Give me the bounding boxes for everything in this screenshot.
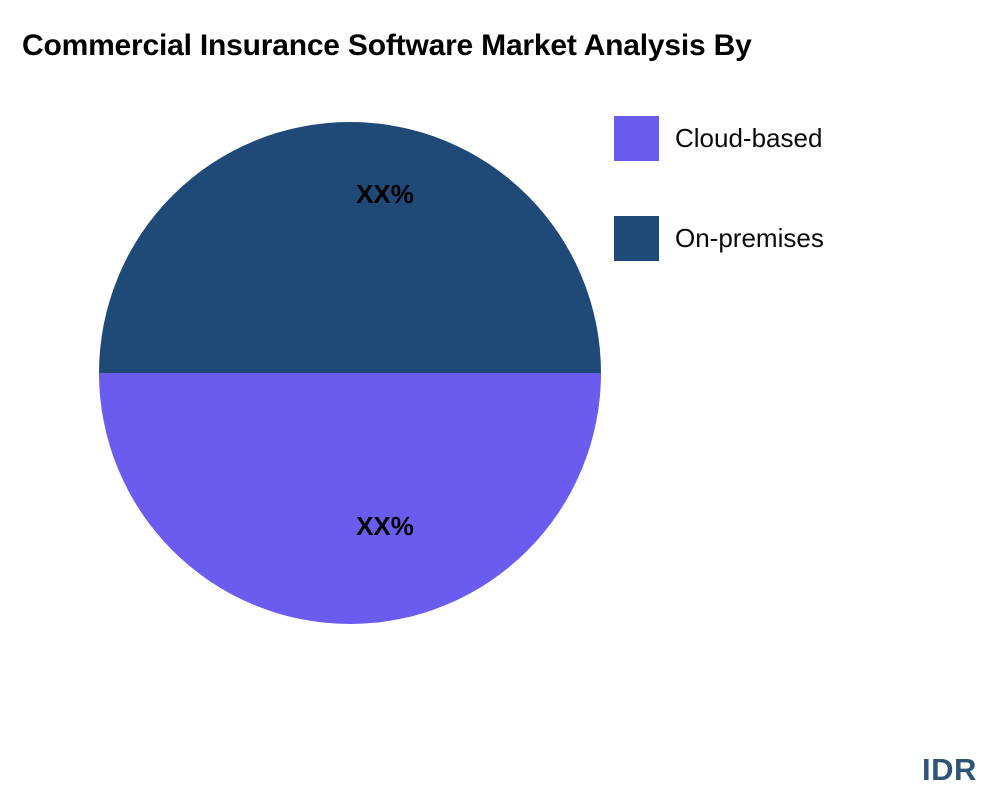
- pie-slice-cloud-based[interactable]: [99, 373, 601, 624]
- chart-canvas: Commercial Insurance Software Market Ana…: [0, 0, 1000, 800]
- pie-chart: XX% XX%: [99, 122, 601, 624]
- legend-item-on-premises[interactable]: On-premises: [614, 216, 974, 261]
- pie-slice-label-cloud-based: XX%: [325, 511, 445, 542]
- pie-slice-on-premises[interactable]: [99, 122, 601, 373]
- pie-slice-label-on-premises: XX%: [325, 179, 445, 210]
- legend-label-cloud-based: Cloud-based: [675, 123, 822, 154]
- legend-swatch-cloud-based: [614, 116, 659, 161]
- page-title: Commercial Insurance Software Market Ana…: [22, 26, 1000, 66]
- chart-legend: Cloud-based On-premises: [614, 116, 974, 316]
- legend-item-cloud-based[interactable]: Cloud-based: [614, 116, 974, 161]
- legend-swatch-on-premises: [614, 216, 659, 261]
- brand-watermark: IDR: [922, 752, 977, 788]
- legend-label-on-premises: On-premises: [675, 223, 824, 254]
